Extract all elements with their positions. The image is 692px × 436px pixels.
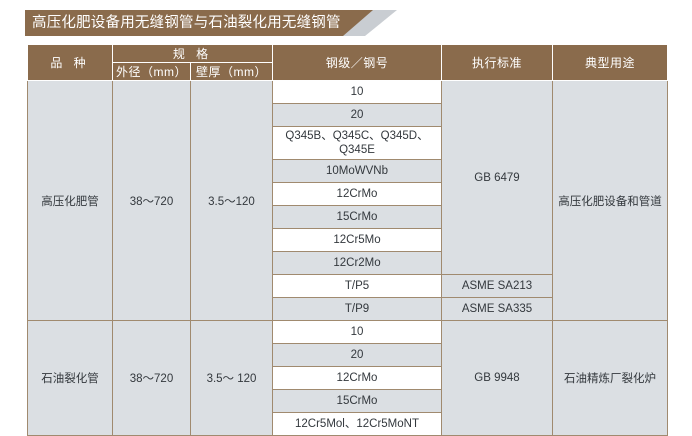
- cell-grade: Q345B、Q345C、Q345D、Q345E: [273, 127, 442, 160]
- cell-wall-thickness: 3.5～120: [191, 81, 273, 321]
- cell-standard: ASME SA335: [442, 298, 553, 321]
- cell-grade: 12Cr5Mol、12Cr5MoNT: [273, 413, 442, 436]
- header-standard: 执行标准: [442, 45, 553, 81]
- cell-outer-diameter: 38～720: [113, 321, 191, 436]
- page-title: 高压化肥设备用无缝钢管与石油裂化用无缝钢管: [25, 10, 341, 36]
- cell-grade: T/P9: [273, 298, 442, 321]
- header-spec-group-label: 规 格: [173, 47, 212, 61]
- cell-standard: GB 9948: [442, 321, 553, 436]
- header-wall-thickness: 壁厚（mm）: [191, 63, 273, 81]
- table-body: 高压化肥管38～7203.5～12010GB 6479高压化肥设备和管道20Q3…: [28, 81, 668, 436]
- banner-brown-bar: 高压化肥设备用无缝钢管与石油裂化用无缝钢管: [25, 10, 373, 36]
- table-row: 石油裂化管38～7203.5～ 12010GB 9948石油精炼厂裂化炉: [28, 321, 668, 344]
- page-title-banner: 高压化肥设备用无缝钢管与石油裂化用无缝钢管: [25, 10, 397, 36]
- table-row: 高压化肥管38～7203.5～12010GB 6479高压化肥设备和管道: [28, 81, 668, 104]
- cell-standard: GB 6479: [442, 81, 553, 275]
- cell-grade: 10: [273, 321, 442, 344]
- cell-grade: 20: [273, 104, 442, 127]
- cell-grade: 15CrMo: [273, 390, 442, 413]
- cell-grade: 12Cr2Mo: [273, 252, 442, 275]
- cell-grade: 10MoWVNb: [273, 160, 442, 183]
- cell-application: 石油精炼厂裂化炉: [553, 321, 668, 436]
- cell-grade: 12Cr5Mo: [273, 229, 442, 252]
- header-spec-group: 规 格: [113, 45, 273, 63]
- cell-grade: 12CrMo: [273, 183, 442, 206]
- table-header: 品 种 规 格 钢级／钢号 执行标准 典型用途 外径（mm） 壁厚（mm）: [28, 45, 668, 81]
- cell-grade: 15CrMo: [273, 206, 442, 229]
- header-kind-label: 品 种: [50, 56, 89, 70]
- header-application: 典型用途: [553, 45, 668, 81]
- cell-wall-thickness: 3.5～ 120: [191, 321, 273, 436]
- cell-kind: 高压化肥管: [28, 81, 113, 321]
- cell-grade: 12CrMo: [273, 367, 442, 390]
- cell-outer-diameter: 38～720: [113, 81, 191, 321]
- cell-kind: 石油裂化管: [28, 321, 113, 436]
- cell-standard: ASME SA213: [442, 275, 553, 298]
- cell-grade: T/P5: [273, 275, 442, 298]
- cell-grade: 20: [273, 344, 442, 367]
- cell-grade: 10: [273, 81, 442, 104]
- header-row-1: 品 种 规 格 钢级／钢号 执行标准 典型用途: [28, 45, 668, 63]
- header-outer-diameter: 外径（mm）: [113, 63, 191, 81]
- steel-pipe-spec-table: 品 种 规 格 钢级／钢号 执行标准 典型用途 外径（mm） 壁厚（mm） 高压…: [27, 44, 668, 436]
- header-kind: 品 种: [28, 45, 113, 81]
- cell-application: 高压化肥设备和管道: [553, 81, 668, 321]
- header-grade: 钢级／钢号: [273, 45, 442, 81]
